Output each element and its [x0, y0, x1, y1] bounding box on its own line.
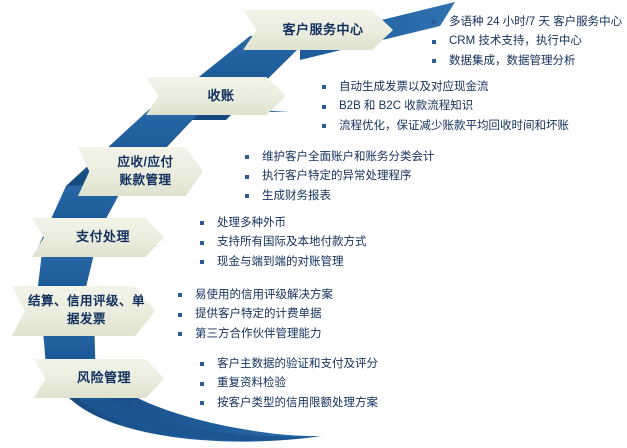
bullet-text: 支持所有国际及本地付款方式	[217, 236, 367, 248]
bullet-text: 流程优化，保证减少账款平均回收时间和坏账	[339, 120, 569, 132]
stage-chevron-receivable-payable[interactable]: 应收/应付 账款管理	[78, 147, 203, 196]
bullet-square-icon	[432, 20, 436, 24]
bullet-square-icon	[200, 382, 204, 386]
bullet-text: 现金与端到端的对账管理	[217, 256, 344, 268]
list-item: 维护客户全面账户和账务分类会计	[245, 150, 435, 164]
bullet-square-icon	[322, 124, 326, 128]
bullet-text: 执行客户特定的异常处理程序	[262, 170, 412, 182]
bullet-text: 按客户类型的信用限额处理方案	[217, 397, 378, 409]
bullet-list-customer-service-center: 多语种 24 小时/7 天 客户服务中心 CRM 技术支持，执行中心 数据集成，…	[432, 15, 622, 68]
bullet-group-settlement-credit-billing: 易使用的信用评级解决方案 提供客户特定的计费单据 第三方合作伙伴管理能力	[178, 288, 333, 346]
bullet-square-icon	[200, 401, 204, 405]
list-item: 自动生成发票以及对应现金流	[322, 80, 569, 94]
bullet-square-icon	[178, 332, 182, 336]
list-item: 执行客户特定的异常处理程序	[245, 169, 435, 183]
process-spiral-diagram: 客户服务中心 收账 应收/应付 账款管理 支付处理 结算、信用评级、单 据发票 …	[0, 0, 627, 448]
bullet-group-customer-service-center: 多语种 24 小时/7 天 客户服务中心 CRM 技术支持，执行中心 数据集成，…	[432, 15, 622, 73]
list-item: 按客户类型的信用限额处理方案	[200, 396, 378, 410]
bullet-text: 提供客户特定的计费单据	[195, 308, 322, 320]
bullet-square-icon	[245, 155, 249, 159]
bullet-text: CRM 技术支持，执行中心	[449, 35, 582, 47]
stage-label-receivable-payable-line2: 账款管理	[113, 172, 177, 190]
list-item: 生成财务报表	[245, 189, 435, 203]
stage-label-settlement-line1: 结算、信用评级、单	[22, 293, 151, 311]
bullet-text: 第三方合作伙伴管理能力	[195, 328, 322, 340]
list-item: 多语种 24 小时/7 天 客户服务中心	[432, 15, 622, 29]
bullet-square-icon	[200, 260, 204, 264]
stage-label-receivable-payable-line1: 应收/应付	[112, 154, 180, 172]
list-item: 处理多种外币	[200, 216, 367, 230]
bullet-list-payment-processing: 处理多种外币 支持所有国际及本地付款方式 现金与端到端的对账管理	[200, 216, 367, 269]
bullet-text: 重复资料检验	[217, 377, 286, 389]
stage-label-settlement-line2: 据发票	[61, 311, 112, 329]
list-item: 第三方合作伙伴管理能力	[178, 327, 333, 341]
bullet-text: 多语种 24 小时/7 天 客户服务中心	[449, 16, 622, 28]
bullet-group-risk-management: 客户主数据的验证和支付及评分 重复资料检验 按客户类型的信用限额处理方案	[200, 357, 378, 415]
list-item: 支持所有国际及本地付款方式	[200, 235, 367, 249]
bullet-square-icon	[178, 293, 182, 297]
bullet-text: 处理多种外币	[217, 217, 286, 229]
list-item: B2B 和 B2C 收款流程知识	[322, 99, 569, 113]
bullet-square-icon	[178, 313, 182, 317]
bullet-group-payment-processing: 处理多种外币 支持所有国际及本地付款方式 现金与端到端的对账管理	[200, 216, 367, 274]
bullet-square-icon	[432, 59, 436, 63]
bullet-square-icon	[322, 105, 326, 109]
bullet-text: 生成财务报表	[262, 190, 331, 202]
stage-chevron-customer-service-center[interactable]: 客户服务中心	[243, 10, 393, 50]
stage-chevron-settlement-credit-billing[interactable]: 结算、信用评级、单 据发票	[12, 286, 155, 336]
bullet-text: 客户主数据的验证和支付及评分	[217, 358, 378, 370]
stage-label-payment-processing: 支付处理	[70, 228, 136, 246]
bullet-square-icon	[322, 85, 326, 89]
bullet-list-settlement-credit-billing: 易使用的信用评级解决方案 提供客户特定的计费单据 第三方合作伙伴管理能力	[178, 288, 333, 341]
list-item: CRM 技术支持，执行中心	[432, 34, 622, 48]
stage-label-collections: 收账	[201, 87, 240, 105]
bullet-group-receivable-payable: 维护客户全面账户和账务分类会计 执行客户特定的异常处理程序 生成财务报表	[245, 150, 435, 208]
list-item: 重复资料检验	[200, 376, 378, 390]
bullet-text: 易使用的信用评级解决方案	[195, 289, 333, 301]
list-item: 提供客户特定的计费单据	[178, 307, 333, 321]
list-item: 易使用的信用评级解决方案	[178, 288, 333, 302]
list-item: 流程优化，保证减少账款平均回收时间和坏账	[322, 119, 569, 133]
bullet-list-collections: 自动生成发票以及对应现金流 B2B 和 B2C 收款流程知识 流程优化，保证减少…	[322, 80, 569, 133]
bullet-text: 自动生成发票以及对应现金流	[339, 81, 489, 93]
bullet-square-icon	[245, 175, 249, 179]
bullet-square-icon	[200, 221, 204, 225]
list-item: 客户主数据的验证和支付及评分	[200, 357, 378, 371]
stage-label-risk-management: 风险管理	[71, 369, 137, 387]
bullet-text: 数据集成，数据管理分析	[449, 55, 576, 67]
list-item: 现金与端到端的对账管理	[200, 255, 367, 269]
stage-chevron-collections[interactable]: 收账	[146, 77, 286, 115]
bullet-text: 维护客户全面账户和账务分类会计	[262, 151, 435, 163]
stage-chevron-payment-processing[interactable]: 支付处理	[32, 218, 164, 257]
bullet-square-icon	[245, 194, 249, 198]
bullet-list-receivable-payable: 维护客户全面账户和账务分类会计 执行客户特定的异常处理程序 生成财务报表	[245, 150, 435, 203]
bullet-group-collections: 自动生成发票以及对应现金流 B2B 和 B2C 收款流程知识 流程优化，保证减少…	[322, 80, 569, 138]
list-item: 数据集成，数据管理分析	[432, 54, 622, 68]
stage-label-customer-service-center: 客户服务中心	[276, 21, 369, 39]
bullet-square-icon	[200, 241, 204, 245]
bullet-square-icon	[432, 40, 436, 44]
bullet-square-icon	[200, 362, 204, 366]
bullet-list-risk-management: 客户主数据的验证和支付及评分 重复资料检验 按客户类型的信用限额处理方案	[200, 357, 378, 410]
stage-chevron-risk-management[interactable]: 风险管理	[34, 359, 164, 398]
bullet-text: B2B 和 B2C 收款流程知识	[339, 100, 473, 112]
